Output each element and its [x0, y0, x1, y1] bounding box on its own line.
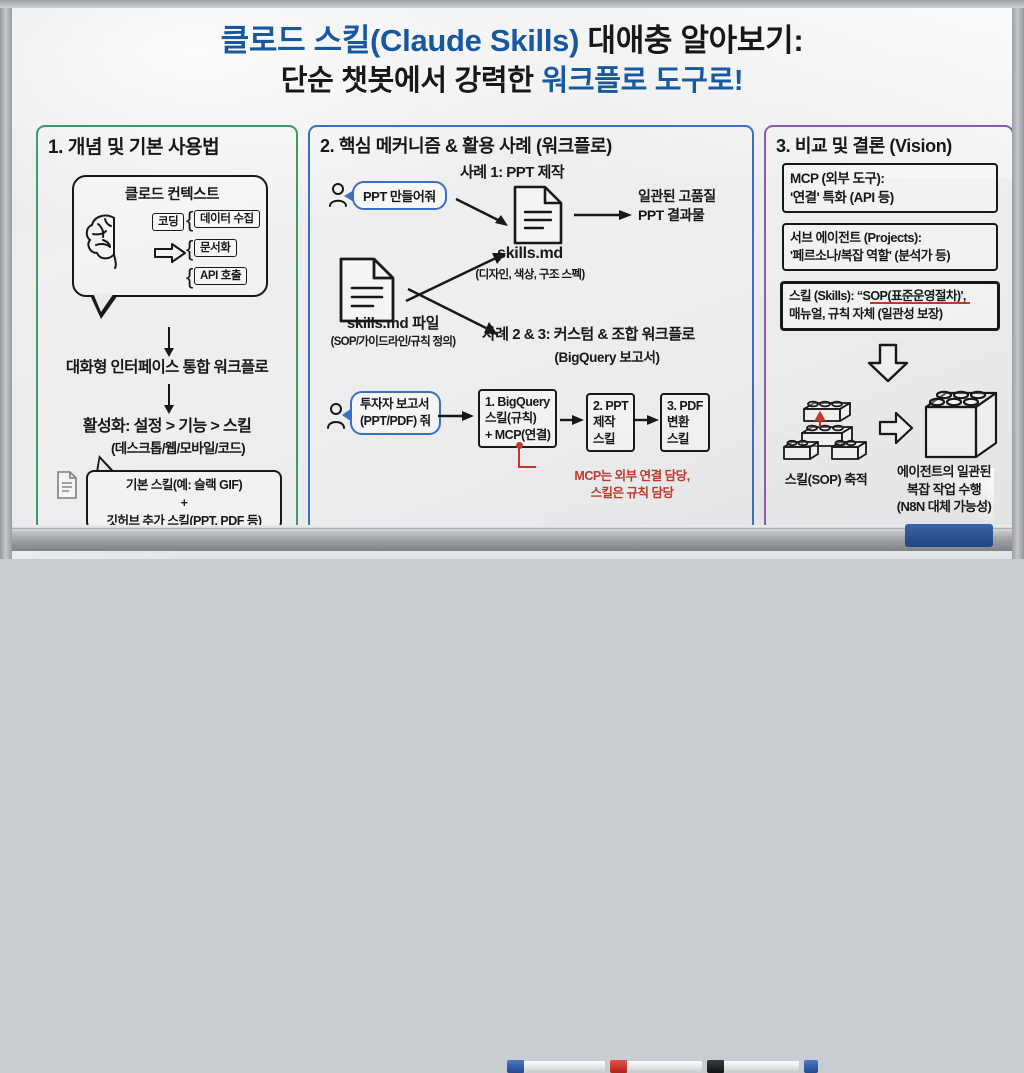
arrow-down-icon-1	[168, 327, 170, 349]
agent-outcome-label: 에이전트의 일관된 복잡 작업 수행 (N8N 대체 가능성)	[876, 463, 1012, 516]
board-frame-right	[1012, 0, 1024, 559]
skills-callout: 기본 스킬(예: 슬랙 GIF) + 깃허브 추가 스킬(PPT, PDF 등)	[86, 470, 282, 530]
sop-underline	[870, 302, 970, 304]
red-note-line-1: MCP는 외부 연결 담당,	[532, 468, 732, 485]
subagent-line-2: '페르소나/복잡 역할' (분석가 등)	[790, 247, 990, 265]
lego-bricks-icon	[780, 395, 872, 467]
arrow-bubble-to-step1	[438, 408, 476, 424]
case-23-title: 사례 2 & 3: 커스텀 & 조합 워크플로	[482, 323, 695, 344]
outcome-line-2: 복잡 작업 수행	[876, 481, 1012, 499]
panel-1-title: 1. 개념 및 기본 사용법	[48, 132, 219, 159]
blue-marker[interactable]	[507, 1060, 605, 1073]
brace-icon-1: {	[186, 209, 193, 231]
workflow-step-bigquery: 1. BigQuery 스킬(규칙) + MCP(연결)	[478, 389, 557, 448]
investor-bubble-line-2: (PPT/PDF) 줘	[360, 413, 431, 430]
conversational-workflow-text: 대화형 인터페이스 통합 워크플로	[38, 355, 296, 377]
panel-concepts-and-basic-usage: 1. 개념 및 기본 사용법 클로드 컨텍스트	[36, 125, 298, 533]
user-request-bubble-ppt: PPT 만들어줘	[352, 181, 447, 210]
step3-line1: 3. PDF	[667, 398, 703, 414]
board-frame-left	[0, 0, 12, 559]
arrow-step1-to-step2	[560, 412, 586, 428]
panel-core-mechanism-and-use-cases: 2. 핵심 메커니즘 & 활용 사례 (워크플로) 사례 1: PPT 제작 P…	[308, 125, 754, 533]
outcome-line-1: 에이전트의 일관된	[876, 463, 1012, 481]
workflow-step-pdf: 3. PDF 변환 스킬	[660, 393, 710, 452]
title-line2-prefix: 단순 챗봇에서 강력한	[281, 65, 534, 97]
red-note-line-2: 스킬은 규칙 담당	[532, 485, 732, 502]
brace-icon-3: {	[186, 266, 193, 288]
whiteboard: 클로드 스킬(Claude Skills) 대애충 알아보기: 단순 챗봇에서 …	[0, 0, 1024, 559]
skills-line-2: 매뉴얼, 규칙 자체 (일관성 보장)	[789, 306, 991, 324]
title-highlight-workflow: 워크플로 도구로!	[541, 65, 743, 97]
platforms-text: (데스크톱/웹/모바일/코드)	[60, 437, 296, 457]
mcp-line-2: '연결' 특화 (API 등)	[790, 188, 990, 207]
case-1-result-text: 일관된 고품질 PPT 결과물	[638, 187, 758, 225]
result-line-2: PPT 결과물	[638, 206, 758, 225]
activation-path-text: 활성화: 설정 > 기능 > 스킬	[38, 412, 296, 436]
step2-line3: 스킬	[593, 431, 628, 447]
step2-line2: 제작	[593, 414, 628, 430]
investor-bubble-line-1: 투자자 보고서	[360, 396, 431, 413]
arrow-step2-to-step3	[635, 412, 661, 428]
claude-context-title: 클로드 컨텍스트	[74, 183, 270, 204]
subagent-line-1: 서브 에이전트 (Projects):	[790, 229, 990, 247]
callout-line-2: +	[88, 495, 280, 513]
step2-line1: 2. PPT	[593, 398, 628, 414]
mcp-line-1: MCP (외부 도구):	[790, 169, 990, 188]
comparison-box-mcp: MCP (외부 도구): '연결' 특화 (API 등)	[782, 163, 998, 213]
result-line-1: 일관된 고품질	[638, 187, 758, 206]
tag-documentation: 문서화	[194, 239, 237, 257]
step3-line2: 변환	[667, 414, 703, 430]
comparison-box-skills: 스킬 (Skills): “SOP(표준운영절차)', 매뉴얼, 규칙 자체 (…	[780, 281, 1000, 331]
arrow-skills-to-result	[574, 207, 636, 223]
whiteboard-eraser[interactable]	[905, 524, 993, 547]
mcp-vs-skill-annotation: MCP는 외부 연결 담당, 스킬은 규칙 담당	[532, 468, 732, 502]
lego-accumulation-label: 스킬(SOP) 축적	[766, 469, 886, 488]
page-title: 클로드 스킬(Claude Skills) 대애충 알아보기: 단순 챗봇에서 …	[12, 22, 1012, 99]
bubble-tail-inner	[93, 293, 114, 312]
case-23-sub: (BigQuery 보고서)	[482, 346, 732, 366]
panel-2-title: 2. 핵심 메커니즘 & 활용 사례 (워크플로)	[320, 132, 612, 158]
skills-md-document-icon	[512, 185, 564, 245]
panel-3-title: 3. 비교 및 결론 (Vision)	[776, 132, 952, 158]
tag-data-collection: 데이터 수집	[194, 210, 260, 228]
arrow-right-icon	[154, 243, 186, 263]
step1-line3: + MCP(연결)	[485, 427, 550, 443]
workflow-step-ppt: 2. PPT 제작 스킬	[586, 393, 635, 452]
comparison-box-subagent: 서브 에이전트 (Projects): '페르소나/복잡 역할' (분석가 등)	[782, 223, 998, 271]
arrow-down-icon	[866, 343, 910, 383]
arrow-down-icon-2	[168, 384, 170, 406]
board-frame-top	[0, 0, 1024, 8]
panel-comparison-and-conclusion: 3. 비교 및 결론 (Vision) MCP (외부 도구): '연결' 특화…	[764, 125, 1014, 533]
arrow-bubble-to-skills	[454, 195, 516, 231]
document-icon	[56, 471, 78, 499]
title-highlight-claude-skills: 클로드 스킬(Claude Skills)	[221, 23, 580, 58]
callout-line-1: 기본 스킬(예: 슬랙 GIF)	[88, 477, 280, 495]
step1-line1: 1. BigQuery	[485, 394, 550, 410]
board-surface: 클로드 스킬(Claude Skills) 대애충 알아보기: 단순 챗봇에서 …	[12, 8, 1012, 528]
lego-cube-icon	[918, 385, 1004, 467]
blue-marker-2[interactable]	[804, 1060, 818, 1073]
outcome-line-3: (N8N 대체 가능성)	[876, 498, 1012, 516]
tag-api-call: API 호출	[194, 267, 247, 285]
tag-coding: 코딩	[152, 213, 184, 231]
case-1-title: 사례 1: PPT 제작	[460, 161, 564, 182]
step1-line2: 스킬(규칙)	[485, 410, 550, 426]
red-marker[interactable]	[610, 1060, 702, 1073]
title-rest-line1: 대애충 알아보기:	[587, 23, 803, 58]
arrow-right-icon	[878, 411, 914, 445]
black-marker[interactable]	[707, 1060, 799, 1073]
step3-line3: 스킬	[667, 431, 703, 447]
user-request-bubble-investor: 투자자 보고서 (PPT/PDF) 줘	[350, 391, 441, 435]
claude-context-bubble: 클로드 컨텍스트	[72, 175, 268, 297]
brain-icon	[84, 210, 146, 270]
marker-tray	[12, 528, 1012, 551]
brace-icon-2: {	[186, 238, 193, 260]
